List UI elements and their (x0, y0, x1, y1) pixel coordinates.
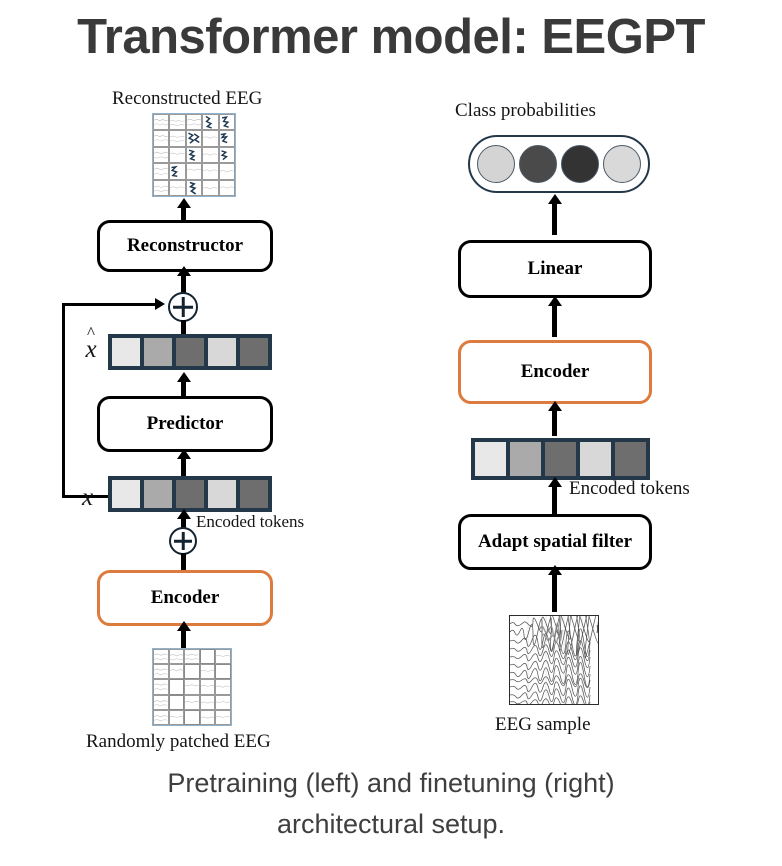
eeg-patch-reconstructed (219, 114, 235, 130)
eeg-patch (153, 130, 169, 146)
eeg-patch (169, 114, 185, 130)
encoded-tokens-label-left: Encoded tokens (196, 512, 304, 532)
eeg-patch (169, 130, 185, 146)
class-probabilities-label: Class probabilities (455, 100, 596, 122)
arrow-eeg-sample-to-filter (552, 574, 557, 612)
encoded-tokens-label-right: Encoded tokens (569, 478, 690, 500)
eeg-patch (153, 664, 169, 679)
eeg-patch (215, 710, 231, 725)
eeg-patch (219, 180, 235, 196)
eeg-patch (200, 695, 216, 710)
eeg-patch (169, 649, 185, 664)
token-cell (142, 336, 174, 368)
eeg-patch (200, 679, 216, 694)
skip-connection-horizontal (62, 303, 156, 306)
skip-connection-vertical (62, 303, 65, 497)
arrow-encoder-to-linear (552, 305, 557, 337)
box-reconstructor-label: Reconstructor (127, 235, 243, 257)
caption-line-2: architectural setup. (0, 804, 782, 845)
eeg-patch-reconstructed (219, 130, 235, 146)
eeg-patch-reconstructed (219, 147, 235, 163)
reconstructed-eeg-label: Reconstructed EEG (112, 88, 262, 110)
token-cell (110, 478, 142, 510)
reconstructed-eeg-image (152, 113, 236, 197)
eeg-patch (215, 695, 231, 710)
eeg-patch (153, 695, 169, 710)
eeg-patch (169, 147, 185, 163)
eeg-patch (184, 695, 200, 710)
token-cell (473, 440, 508, 478)
token-strip-encoded-left (108, 476, 272, 512)
token-cell (110, 336, 142, 368)
eeg-patch (153, 710, 169, 725)
box-encoder-pretraining[interactable]: Encoder (97, 570, 273, 626)
token-cell (238, 478, 270, 510)
slide-canvas: Transformer model: EEGPT Reconstructed E… (0, 0, 782, 866)
eeg-patch (202, 180, 218, 196)
box-linear[interactable]: Linear (458, 240, 652, 298)
eeg-patch (153, 180, 169, 196)
eeg-patch (153, 679, 169, 694)
eeg-patch (184, 679, 200, 694)
eeg-patch (186, 114, 202, 130)
eeg-patch-masked (169, 679, 185, 694)
box-adapt-spatial-filter[interactable]: Adapt spatial filter (458, 514, 652, 570)
token-cell (142, 478, 174, 510)
eeg-patch (153, 114, 169, 130)
eeg-patch (184, 649, 200, 664)
eeg-patch (202, 163, 218, 179)
eeg-patch-masked (184, 710, 200, 725)
token-cell (206, 336, 238, 368)
class-probability-dot (561, 145, 599, 183)
eeg-patch (169, 664, 185, 679)
box-encoder-finetuning[interactable]: Encoder (458, 340, 652, 404)
eeg-patch-masked (200, 649, 216, 664)
page-title: Transformer model: EEGPT (0, 8, 782, 66)
eeg-patch (202, 147, 218, 163)
class-probabilities-pill (468, 135, 650, 193)
token-cell (206, 478, 238, 510)
eeg-patch (169, 180, 185, 196)
class-probability-dot (477, 145, 515, 183)
eeg-patch (169, 710, 185, 725)
box-predictor-label: Predictor (147, 413, 224, 435)
box-reconstructor[interactable]: Reconstructor (97, 220, 273, 272)
token-cell (578, 440, 613, 478)
eeg-patch-reconstructed (169, 163, 185, 179)
eeg-patch-reconstructed (202, 114, 218, 130)
arrow-tokens-to-encoder (552, 410, 557, 436)
x-label: x (82, 484, 93, 512)
token-cell (613, 440, 648, 478)
box-predictor[interactable]: Predictor (97, 396, 273, 452)
eeg-patch-masked (169, 695, 185, 710)
box-encoder-label: Encoder (151, 587, 220, 609)
class-probability-dot (603, 145, 641, 183)
box-encoder-label: Encoder (521, 361, 590, 383)
eeg-patch (202, 130, 218, 146)
eeg-patch-reconstructed (186, 180, 202, 196)
connector-xhat-to-sum (181, 320, 186, 334)
randomly-patched-eeg-image (152, 648, 232, 726)
token-strip-predicted (108, 334, 272, 370)
token-cell (174, 336, 206, 368)
figure-caption: Pretraining (left) and finetuning (right… (0, 763, 782, 845)
eeg-patch (153, 649, 169, 664)
connector-encoder-to-sum (181, 553, 186, 571)
eeg-patch (200, 664, 216, 679)
token-cell (508, 440, 543, 478)
arrow-reconstructor-to-eeg (181, 207, 186, 221)
eeg-patch-masked (215, 664, 231, 679)
eeg-patch-reconstructed (186, 130, 202, 146)
class-probability-dot (519, 145, 557, 183)
randomly-patched-eeg-label: Randomly patched EEG (86, 731, 271, 753)
eeg-sample-image (509, 615, 599, 705)
eeg-patch (215, 679, 231, 694)
eeg-patch (186, 163, 202, 179)
token-strip-encoded-right (471, 438, 650, 480)
sum-operator-bottom (169, 527, 197, 555)
token-cell (543, 440, 578, 478)
eeg-patch (153, 163, 169, 179)
eeg-patch (200, 710, 216, 725)
eeg-patch (215, 649, 231, 664)
token-cell (174, 478, 206, 510)
arrow-filter-to-tokens (552, 486, 557, 514)
eeg-patch-masked (184, 664, 200, 679)
x-hat-glyph: x (80, 337, 102, 362)
token-cell (238, 336, 270, 368)
eeg-sample-label: EEG sample (495, 714, 591, 736)
eeg-patch (153, 147, 169, 163)
arrow-linear-to-probabilities (552, 203, 557, 235)
eeg-patch-reconstructed (186, 147, 202, 163)
eeg-patch (219, 163, 235, 179)
box-linear-label: Linear (528, 258, 583, 280)
sum-operator-top (168, 292, 198, 322)
box-adapt-spatial-filter-label: Adapt spatial filter (478, 531, 632, 553)
caption-line-1: Pretraining (left) and finetuning (right… (0, 763, 782, 804)
x-hat-label: ^ x̂ x (80, 328, 102, 362)
